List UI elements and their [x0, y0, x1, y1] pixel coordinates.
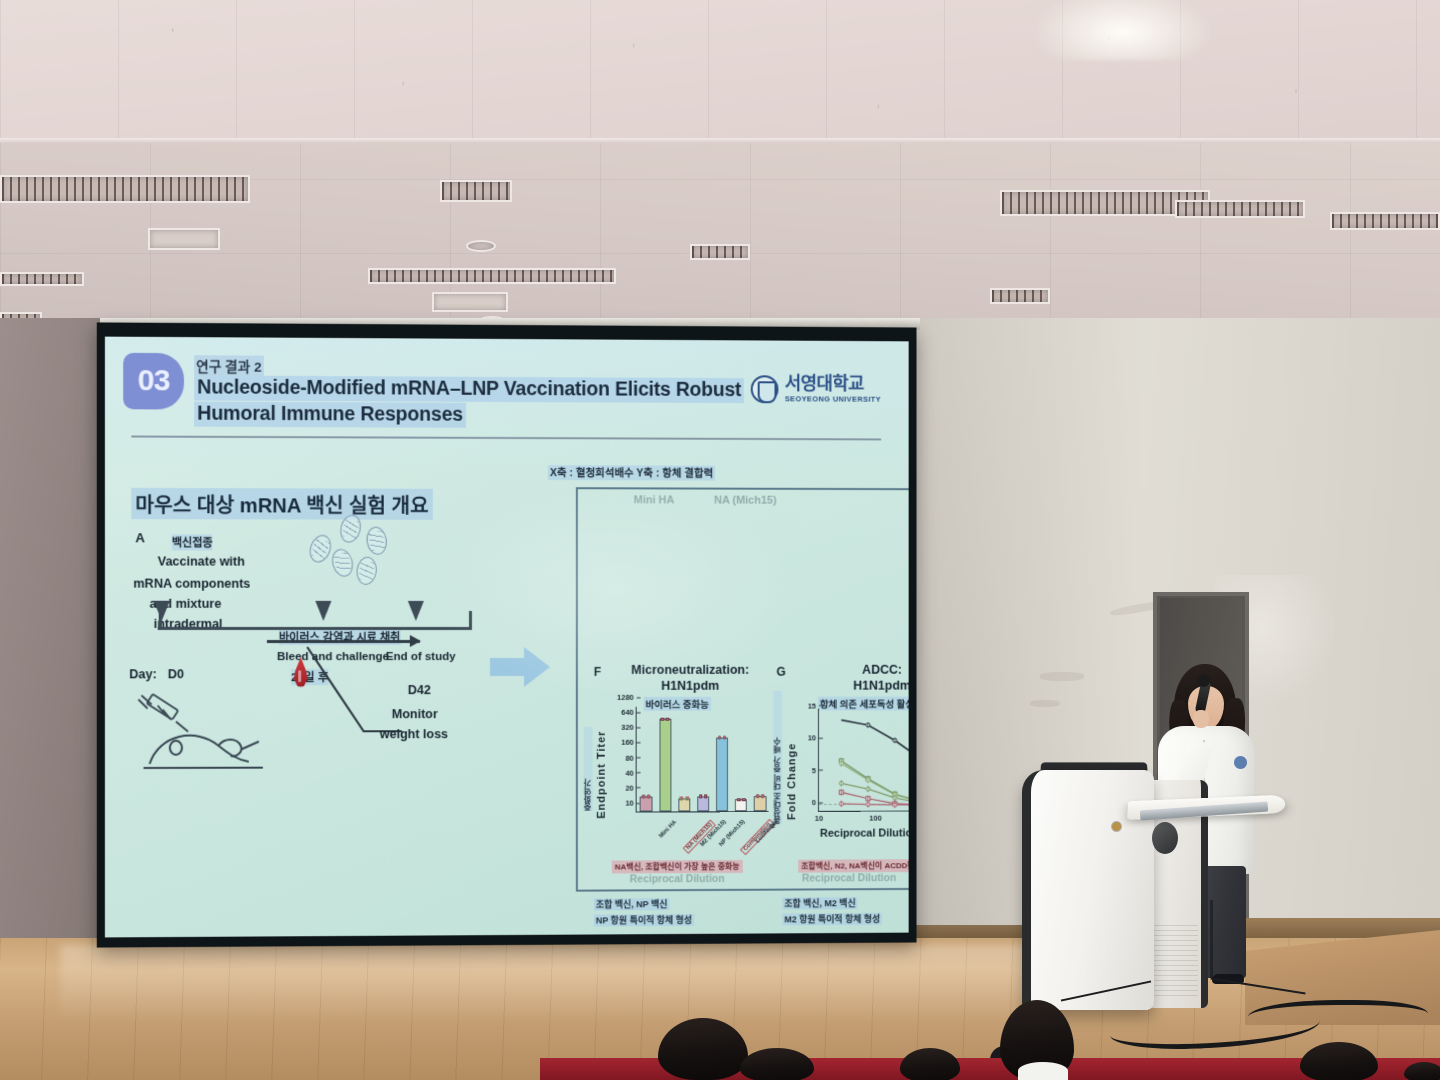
chart-panel-f: F Microneutralization: H1N1pdm 바이러스 중화능 … [578, 665, 777, 875]
panel-letter-a: A [135, 530, 145, 545]
chart-f-ytick: 160 [621, 738, 636, 747]
chart-g-xtick: 100 [869, 814, 881, 823]
ghost-footer-item: Reciprocal Dilution [802, 872, 896, 884]
projection-screen[interactable]: 03 연구 결과 2 Nucleoside-Modified mRNA–LNP … [97, 322, 917, 947]
vaccinate-line1: Vaccinate with [158, 554, 245, 568]
wall-mark [1030, 700, 1060, 707]
chart-g-ytick: 0 [812, 797, 819, 806]
ceiling-far-tiles [0, 0, 1440, 152]
chart-f-ytick: 40 [625, 768, 636, 777]
ceiling-vent [990, 288, 1050, 304]
ghost-header-item: Mini HA [634, 494, 675, 506]
chart-f-bar [716, 737, 728, 811]
vaccinate-label-ko: 백신접종 [172, 534, 213, 550]
ceiling-vent [440, 180, 512, 202]
logo-english-text: SEOYEONG UNIVERSITY [785, 394, 881, 403]
audience-head [1404, 1062, 1440, 1080]
chart-f-datapoint [761, 795, 764, 798]
slide-title-line2: Humoral Immune Responses [194, 402, 466, 428]
ceiling-vent [690, 244, 750, 260]
chart-g-ylabel-ko: 음성대조 대비 증가 배수 [774, 691, 783, 824]
chart-f-datapoints [697, 795, 709, 799]
chart-f-ytick: 1280 [617, 692, 637, 701]
chart-f-datapoint [723, 736, 726, 739]
chart-g-ytick: 5 [812, 765, 819, 774]
chart-f-datapoint [756, 795, 759, 798]
chart-g-plot-area: 051015101001000 [818, 708, 909, 812]
ceiling-light-fixture [368, 268, 616, 284]
chart-f-datapoints [659, 717, 671, 721]
figure-axis-note: X축 : 혈청희석배수 Y축 : 항체 결합력 [548, 465, 715, 481]
slide-section-badge: 03 [123, 353, 184, 410]
chart-g-xtick: 10 [815, 814, 823, 823]
ghost-footer-item: Reciprocal Dilution [630, 873, 725, 885]
chart-f-subtitle: H1N1pdm [616, 679, 765, 693]
day-0-label: D0 [168, 667, 184, 681]
figure-panel-box: Mini HA NA (Mich15) F Microneutralizatio… [576, 487, 909, 891]
ceiling-vent [148, 228, 220, 250]
virus-particle-icon [355, 556, 378, 586]
figure-ghost-footers: Reciprocal Dilution Reciprocal Dilution [578, 872, 909, 886]
ceiling-vent [432, 292, 508, 312]
figure-footnote-right-2: M2 항원 특이적 항체 형성 [782, 913, 882, 926]
chart-f-annotation: NA백신, 조합백신이 가장 높은 중화능 [612, 860, 743, 874]
ceiling-light-fixture [1175, 200, 1305, 218]
monitor-line2: weight loss [380, 727, 448, 741]
monitor-line1: Monitor [392, 707, 438, 721]
day-axis-label: Day: [129, 667, 156, 681]
chart-g-title: ADCC: [808, 663, 909, 677]
lab-coat-emblem [1234, 756, 1247, 769]
chart-panel-g: G ADCC: H1N1pdm 항체 의존 세포독성 활성평가 음성대조 대비 … [773, 665, 909, 874]
chart-f-bar [754, 796, 766, 811]
ghost-header-item: NA (Mich15) [714, 495, 777, 507]
chart-f-datapoints [716, 736, 728, 740]
university-seal-icon [751, 375, 779, 403]
day-42-label: D42 [408, 683, 431, 697]
chart-f-ytick: 80 [625, 753, 636, 762]
slide-header-divider [131, 436, 881, 441]
microphone-head [1197, 674, 1210, 687]
virus-particle-icon [306, 532, 335, 565]
chart-f-bar [659, 719, 671, 812]
chart-f-ytick: 640 [621, 707, 636, 716]
chart-f-datapoint [647, 795, 650, 799]
chart-f-datapoint [737, 798, 740, 801]
chart-f-title: Microneutralization: [616, 663, 765, 677]
chart-f-datapoint [661, 717, 664, 720]
chart-f-letter: F [594, 665, 601, 679]
figure-ghost-headers: Mini HA NA (Mich15) [578, 489, 909, 512]
university-logo: 서영대학교 SEOYEONG UNIVERSITY [751, 374, 881, 403]
ceiling-light-glare [1035, 0, 1210, 60]
chart-f-bar [697, 796, 709, 811]
wall-mark [1040, 672, 1084, 681]
chart-f-datapoint [704, 795, 707, 798]
chart-g-subtitle: H1N1pdm [808, 679, 909, 693]
audience-collar [1018, 1062, 1068, 1080]
chart-g-ytick: 15 [808, 701, 819, 710]
ceiling-speaker [466, 240, 496, 252]
chart-f-datapoint [742, 798, 745, 801]
chart-g-annotation: 조합백신, N2, NA백신이 ACDD활성 유도 [798, 859, 908, 873]
chart-f-ytick: 10 [625, 798, 636, 807]
chart-f-datapoints [735, 798, 747, 802]
timeline-marker-d42 [408, 601, 424, 621]
ceiling-light-fixture [1330, 212, 1440, 230]
chart-f-datapoint [718, 736, 721, 739]
chart-f-datapoints [754, 795, 766, 799]
timeline-marker-d28 [315, 601, 331, 621]
chart-g-letter: G [776, 665, 785, 679]
timeline-tick [469, 611, 472, 627]
chart-g-ylabel: Fold Change [786, 713, 798, 820]
presentation-slide: 03 연구 결과 2 Nucleoside-Modified mRNA–LNP … [105, 337, 909, 938]
chart-f-datapoint [679, 797, 683, 801]
virus-particle-icon [329, 547, 355, 579]
timeline-challenge-arrow [267, 640, 420, 643]
presenter-hand [1193, 710, 1209, 728]
trouser-seam [1210, 900, 1213, 978]
chart-g-xlabel: Reciprocal Dilution [820, 827, 909, 839]
virus-particle-cluster [302, 515, 408, 587]
chart-f-ylabel-ko: 중화역가 [584, 727, 593, 811]
chart-f-datapoint [699, 795, 702, 798]
chart-g-series-svg [819, 708, 909, 811]
chart-f-datapoints [678, 797, 690, 801]
chart-f-datapoint [685, 797, 689, 801]
chart-f-ytick: 20 [625, 783, 636, 792]
chart-f-plot-area: 102040801603206401280 [636, 707, 769, 813]
figure-footnote-right-1: 조합 백신, M2 백신 [782, 897, 857, 909]
mouse-icon [143, 717, 264, 774]
chart-f-datapoint [666, 717, 669, 720]
floor-reflection [60, 945, 1040, 1055]
podium-speaker-grille [1152, 822, 1178, 854]
chart-f-datapoint [642, 795, 645, 799]
vaccinate-line2: mRNA components [133, 577, 250, 591]
floor-cable [1248, 1000, 1428, 1034]
virus-particle-icon [365, 525, 389, 556]
chart-f-ytick: 320 [621, 723, 636, 732]
chart-f-category-label: Mini HA [658, 819, 678, 839]
chart-f-ylabel: Endpoint Titer [596, 709, 608, 819]
ceiling-light-fixture [0, 175, 250, 203]
virus-particle-icon [337, 513, 363, 545]
chart-f-bar [640, 796, 652, 811]
study-timeline-axis [158, 627, 472, 630]
figure-footnote-left-1: 조합 백신, NP 백신 [594, 898, 670, 911]
ceiling-light-fixture [0, 272, 84, 286]
podium-logo-badge [1112, 822, 1121, 831]
chart-g-ytick: 10 [808, 733, 819, 742]
challenge-label-ko: 바이러스 감염과 시료 채취 [279, 629, 400, 645]
logo-korean-text: 서영대학교 [785, 374, 881, 392]
slide-title-line1: Nucleoside-Modified mRNA–LNP Vaccination… [194, 375, 744, 403]
chart-f-datapoints [640, 795, 652, 799]
slide-kicker: 연구 결과 2 [194, 355, 263, 375]
figure-footnote-left-2: NP 항원 특이적 항체 형성 [594, 914, 694, 927]
right-arrow-icon [490, 645, 550, 689]
lecture-room-scene: 03 연구 결과 2 Nucleoside-Modified mRNA–LNP … [0, 0, 1440, 1080]
timeline-tick [159, 611, 162, 627]
